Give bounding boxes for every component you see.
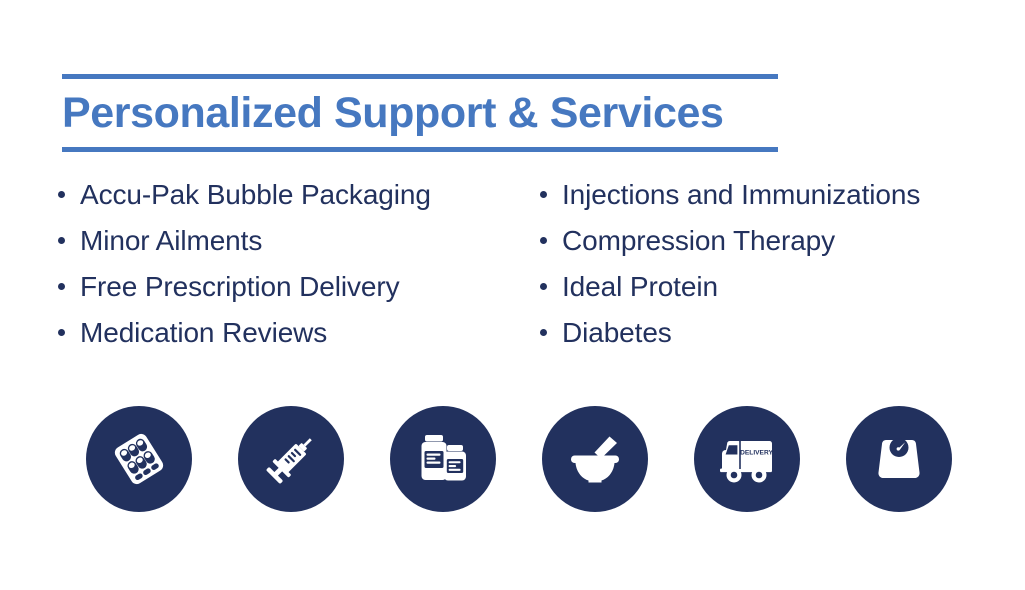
- blister-pack-icon: [107, 427, 171, 491]
- icon-badge-blister-pack: [86, 406, 192, 512]
- list-item: Compression Therapy: [540, 224, 1020, 270]
- service-label: Medication Reviews: [80, 316, 327, 350]
- delivery-truck-icon: DELIVERY: [713, 425, 781, 493]
- list-item: Medication Reviews: [58, 316, 528, 362]
- list-item: Diabetes: [540, 316, 1020, 362]
- page-title: Personalized Support & Services: [62, 79, 778, 147]
- services-column-right: Injections and Immunizations Compression…: [540, 178, 1020, 362]
- service-label: Compression Therapy: [562, 224, 835, 258]
- bullet-dot-icon: [540, 191, 547, 198]
- service-label: Free Prescription Delivery: [80, 270, 400, 304]
- weight-scale-icon: [867, 427, 931, 491]
- service-label: Accu-Pak Bubble Packaging: [80, 178, 431, 212]
- services-column-left: Accu-Pak Bubble Packaging Minor Ailments…: [58, 178, 528, 362]
- bullet-dot-icon: [58, 283, 65, 290]
- list-item: Accu-Pak Bubble Packaging: [58, 178, 528, 224]
- title-rule-bottom: [62, 147, 778, 152]
- icon-badge-mortar-pestle: [542, 406, 648, 512]
- bullet-dot-icon: [540, 237, 547, 244]
- service-label: Minor Ailments: [80, 224, 262, 258]
- list-item: Free Prescription Delivery: [58, 270, 528, 316]
- pill-bottles-icon: [411, 427, 475, 491]
- bullet-dot-icon: [58, 237, 65, 244]
- mortar-pestle-icon: [563, 427, 627, 491]
- syringe-icon: [259, 427, 323, 491]
- service-label: Ideal Protein: [562, 270, 718, 304]
- list-item: Minor Ailments: [58, 224, 528, 270]
- services-columns: Accu-Pak Bubble Packaging Minor Ailments…: [0, 178, 1025, 362]
- bullet-dot-icon: [58, 329, 65, 336]
- bullet-dot-icon: [540, 283, 547, 290]
- bullet-dot-icon: [58, 191, 65, 198]
- delivery-truck-badge-text: DELIVERY: [740, 450, 773, 457]
- title-block: Personalized Support & Services: [62, 74, 778, 152]
- icon-badge-syringe: [238, 406, 344, 512]
- service-label: Diabetes: [562, 316, 672, 350]
- service-label: Injections and Immunizations: [562, 178, 920, 212]
- list-item: Ideal Protein: [540, 270, 1020, 316]
- bullet-dot-icon: [540, 329, 547, 336]
- icon-badge-weight-scale: [846, 406, 952, 512]
- icon-badge-delivery-truck: DELIVERY: [694, 406, 800, 512]
- icon-badge-pill-bottles: [390, 406, 496, 512]
- slide-canvas: Personalized Support & Services Accu-Pak…: [0, 0, 1025, 590]
- list-item: Injections and Immunizations: [540, 178, 1020, 224]
- icon-row: DELIVERY: [0, 406, 1025, 516]
